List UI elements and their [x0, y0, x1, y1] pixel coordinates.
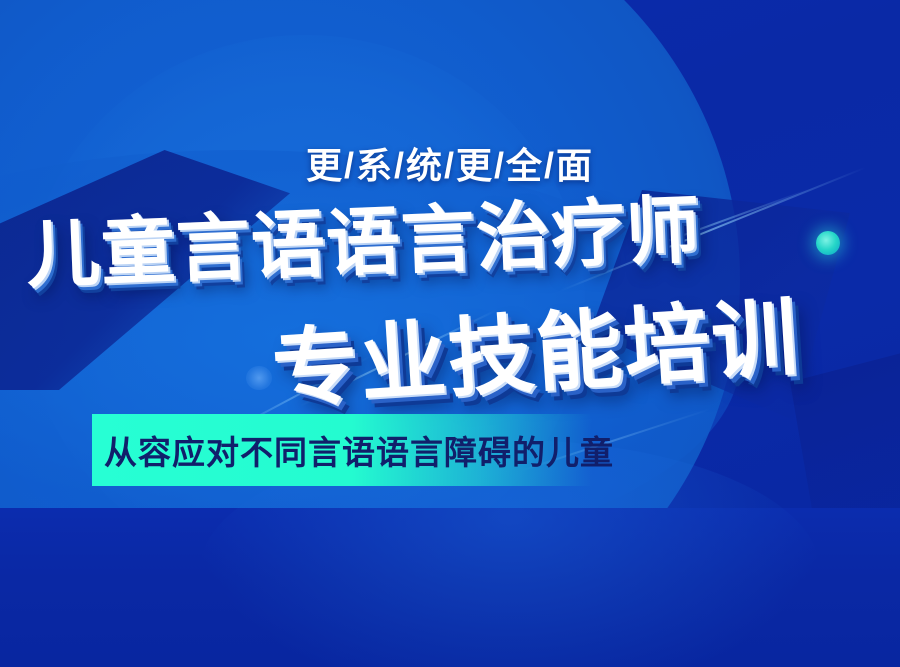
training-course-poster: 更/系/统/更/全/面 儿童言语语言治疗师 专业技能培训 从容应对不同言语语言障… [0, 0, 900, 667]
poster-subtitle-bar: 从容应对不同言语语言障碍的儿童 [92, 414, 592, 486]
poster-subtitle-text: 从容应对不同言语语言障碍的儿童 [92, 426, 614, 474]
poster-content: 更/系/统/更/全/面 儿童言语语言治疗师 专业技能培训 从容应对不同言语语言障… [0, 0, 900, 667]
